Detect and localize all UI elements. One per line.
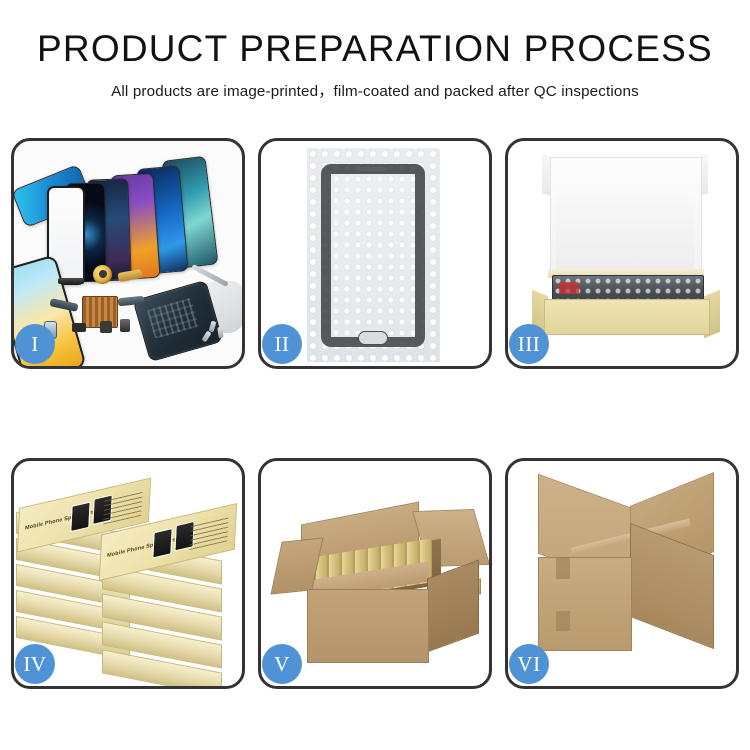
small-module-part-1 [72,323,86,332]
page-subtitle: All products are image-printed，film-coat… [0,79,750,101]
process-step-panel-3[interactable]: III [505,138,739,369]
box-inner-foam [556,187,694,269]
box-front-face [544,299,710,335]
page-header: PRODUCT PREPARATION PROCESS All products… [0,0,750,101]
earpiece-part [58,278,84,284]
box-thumbnail-1 [70,501,90,532]
process-step-panel-5[interactable]: V [258,458,492,689]
box-thumbnail-3 [152,528,172,559]
small-module-part-2 [100,321,112,333]
step-badge-6: VI [509,644,549,684]
step-badge-5: V [262,644,302,684]
page-title: PRODUCT PREPARATION PROCESS [0,28,750,69]
earpiece-slot [358,167,388,171]
process-step-panel-2[interactable]: II [258,138,492,369]
home-button [358,331,388,345]
step-badge-2: II [262,324,302,364]
carton-front-face [307,589,429,663]
bubble-wrap-sheet [307,148,440,362]
small-module-part-3 [120,319,130,332]
carton-tape-patch-bottom [556,611,570,631]
box-spec-lines-front [189,514,228,550]
phone-glass-screen [321,164,425,347]
process-step-panel-4[interactable]: Mobile Phone Spare Parts Mobile Phone Sp… [11,458,245,689]
carton-side-face-left [538,557,632,651]
process-step-grid: I II III [11,138,739,689]
process-step-panel-1[interactable]: I [11,138,245,369]
speaker-coil-part [93,265,112,284]
step-badge-4: IV [15,644,55,684]
box-spec-lines-back [103,488,142,524]
step-badge-3: III [509,324,549,364]
step-badge-1: I [15,324,55,364]
process-step-panel-6[interactable]: VI [505,458,739,689]
carton-tape-patch-top [556,557,570,579]
